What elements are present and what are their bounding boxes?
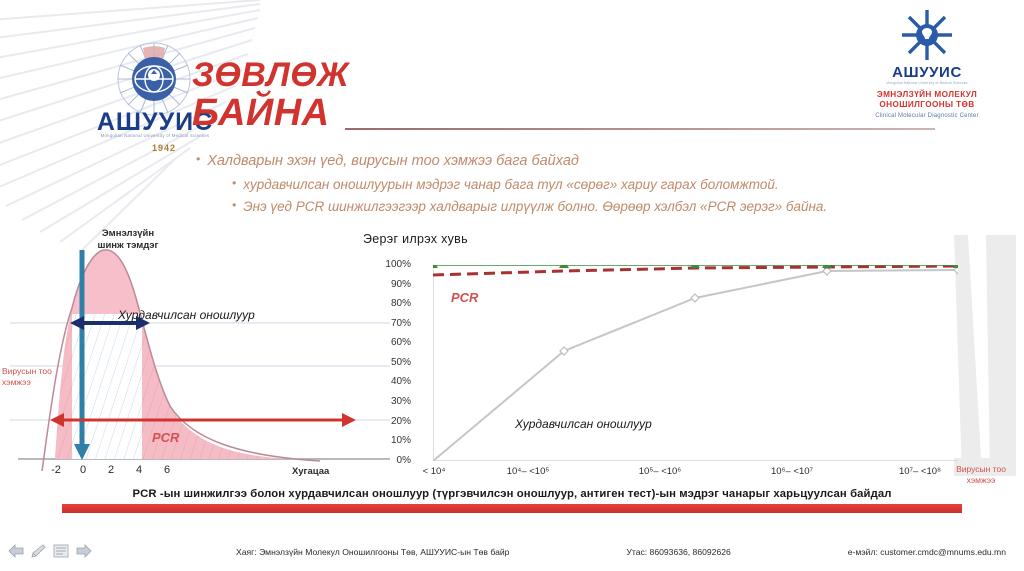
bullet-list: • Халдварын эхэн үед, вирусын тоо хэмжээ… [196,152,1006,220]
viral-load-axis-label: Вирусын тоо хэмжээ [2,366,74,389]
y-tick-label: 90% [365,279,411,290]
caption-text: PCR -ын шинжилгээ болон хурдавчилсан оно… [62,488,962,500]
bullet-item: • хурдавчилсан оношлуурын мэдрэг чанар б… [232,176,1006,194]
positivity-rate-chart: Эерэг илрэх хувь 0% 10% 20% 30% 40% 50% … [355,232,1015,482]
right-logo: АШУУИС Mongolian National University of … [852,8,1002,119]
university-emblem-icon [115,40,193,118]
y-tick-label: 50% [365,357,411,368]
viral-load-axis-label-line2: хэмжээ [2,377,74,388]
footer-address: Хаяг: Эмнэлзүйн Молекул Оношилгооны Төв,… [236,547,509,557]
positivity-plot-svg [433,265,958,461]
y-tick-label: 70% [365,318,411,329]
chart-title: Эерэг илрэх хувь [363,232,468,246]
y-tick-label: 20% [365,416,411,427]
viral-load-x-axis-line2: хэмжээ [943,475,1019,486]
slide-canvas: АШУУИС Mongolian National University of … [0,0,1024,571]
right-logo-name: АШУУИС [852,64,1002,81]
footer-phone: Утас: 86093636, 86092626 [626,547,730,557]
x-tick-label: 0 [73,464,93,476]
pcr-label: PCR [152,430,179,445]
symptom-onset-label-line1: Эмнэлзүйн [68,228,188,240]
page-title: ЗӨВЛӨЖ БАЙНА [192,58,349,132]
time-axis-label: Хугацаа [292,466,329,477]
x-tick-label: -2 [46,464,66,476]
caption-red-bar [62,504,962,513]
footer-icon-group[interactable] [8,544,92,563]
pcr-series-label: PCR [451,290,478,305]
x-category-label: 10⁴– <10⁵ [475,466,581,477]
right-logo-center-line1: ЭМНЭЛЗҮЙН МОЛЕКУЛ [852,90,1002,100]
caption-block: PCR -ын шинжилгээ болон хурдавчилсан оно… [62,488,962,513]
footer-bar: Хаяг: Эмнэлзүйн Молекул Оношилгооны Төв,… [0,537,1024,571]
x-category-label: < 10⁴ [399,466,469,477]
title-divider [345,128,935,130]
viral-load-x-axis-label: Вирусын тоо хэмжээ [943,464,1019,486]
y-tick-label: 60% [365,337,411,348]
viral-load-chart-svg [0,228,395,480]
notes-icon[interactable] [53,544,69,563]
bullet-item: • Халдварын эхэн үед, вирусын тоо хэмжээ… [196,152,1006,172]
rapid-test-label: Хурдавчилсан оношлуур [118,308,255,322]
right-logo-subtitle: Mongolian National University of Medical… [852,81,1002,85]
viral-load-timeline-chart: Эмнэлзүйн шинж тэмдэг Вирусын тоо хэмжээ… [0,228,395,480]
footer-email: е-мэйл: customer.cmdc@mnums.edu.mn [848,547,1006,557]
bullet-item: • Энэ үед PCR шинжилгээгээр халдварыг ил… [232,198,1006,216]
x-tick-label: 6 [157,464,177,476]
x-tick-label: 4 [129,464,149,476]
bullet-dot-icon: • [232,198,236,214]
bullet-text: хурдавчилсан оношлуурын мэдрэг чанар баг… [243,176,778,194]
rapid-series-label: Хурдавчилсан оношлуур [515,417,652,431]
bullet-text: Энэ үед PCR шинжилгээгээр халдварыг илрү… [243,198,827,216]
x-category-label: 10⁶– <10⁷ [739,466,845,477]
x-tick-label: 2 [101,464,121,476]
bullet-dot-icon: • [196,152,200,168]
bullet-text: Халдварын эхэн үед, вирусын тоо хэмжээ б… [207,152,579,172]
symptom-onset-label-line2: шинж тэмдэг [68,240,188,252]
previous-arrow-icon[interactable] [8,544,24,563]
symptom-onset-label: Эмнэлзүйн шинж тэмдэг [68,228,188,253]
right-logo-english: Clinical Molecular Diagnostic Center [852,113,1002,119]
viral-load-axis-label-line1: Вирусын тоо [2,366,74,377]
page-title-line1: ЗӨВЛӨЖ [192,56,349,94]
page-title-line2: БАЙНА [192,94,349,132]
medical-wheel-icon [900,8,954,62]
bullet-dot-icon: • [232,176,236,192]
y-tick-label: 0% [365,455,411,466]
footer-contact-info: Хаяг: Эмнэлзүйн Молекул Оношилгооны Төв,… [236,547,1006,557]
y-tick-label: 100% [365,259,411,270]
pencil-icon[interactable] [31,544,46,563]
next-arrow-icon[interactable] [76,544,92,563]
viral-load-x-axis-line1: Вирусын тоо [943,464,1019,475]
y-tick-label: 40% [365,376,411,387]
y-tick-label: 80% [365,298,411,309]
y-tick-label: 10% [365,435,411,446]
y-tick-label: 30% [365,396,411,407]
right-logo-center-line2: ОНОШИЛГООНЫ ТӨВ [852,100,1002,110]
x-category-label: 10⁵– <10⁶ [607,466,713,477]
